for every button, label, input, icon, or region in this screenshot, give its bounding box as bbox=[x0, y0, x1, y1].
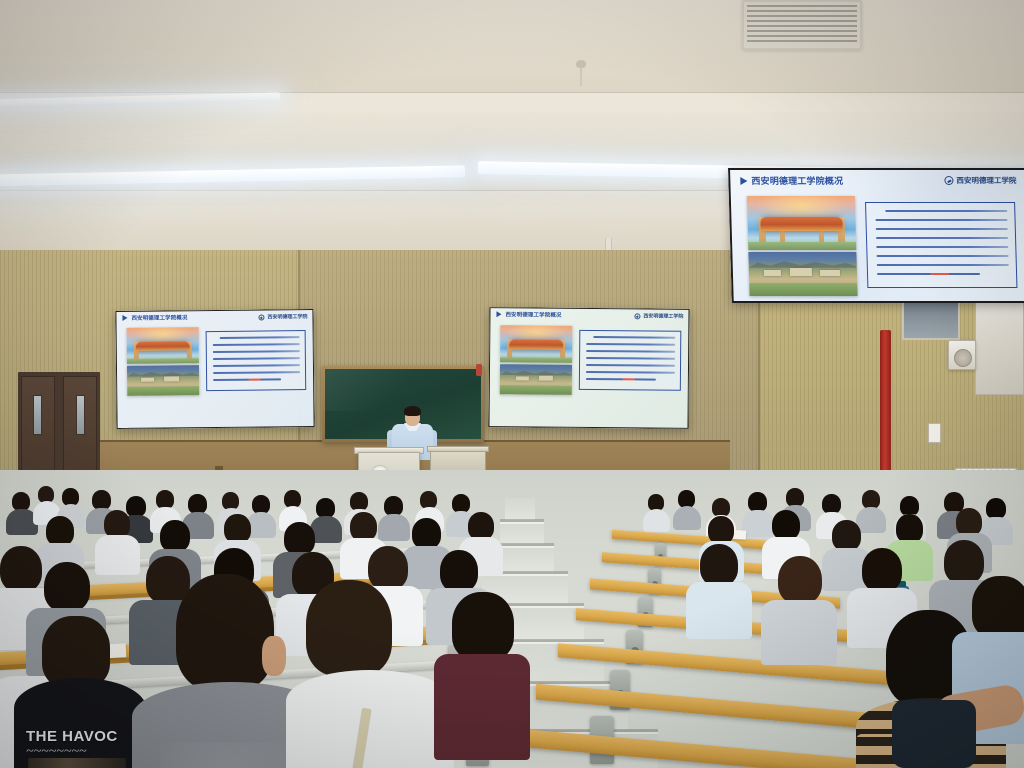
sprinkler-head bbox=[576, 60, 586, 88]
wall-control-panel[interactable] bbox=[928, 423, 941, 443]
board-clip bbox=[476, 364, 482, 376]
neck bbox=[262, 636, 286, 676]
lecture-hall-photo: 西安明德理工学院概况 西安明德理工学院 bbox=[0, 0, 1024, 768]
hvac-vent bbox=[742, 0, 862, 50]
wall-speaker bbox=[948, 340, 976, 370]
ceiling-panel-upper bbox=[0, 0, 1024, 92]
speaker-hair bbox=[404, 406, 421, 416]
tshirt-text: THE HAVOC bbox=[26, 728, 118, 745]
head bbox=[176, 574, 274, 690]
right-projection-screen[interactable]: 西安明德理工学院概况 西安明德理工学院 bbox=[488, 307, 689, 429]
audience-member bbox=[892, 700, 976, 768]
door-vision-panel bbox=[33, 395, 42, 435]
door-vision-panel bbox=[76, 395, 85, 435]
head bbox=[306, 580, 392, 676]
main-projection-screen[interactable]: 西安明德理工学院概况 西安明德理工学院 bbox=[728, 168, 1024, 303]
wall-panel bbox=[975, 300, 1024, 395]
left-projection-screen[interactable]: 西安明德理工学院概况 西安明德理工学院 bbox=[115, 309, 314, 429]
side-table-top bbox=[427, 446, 489, 452]
